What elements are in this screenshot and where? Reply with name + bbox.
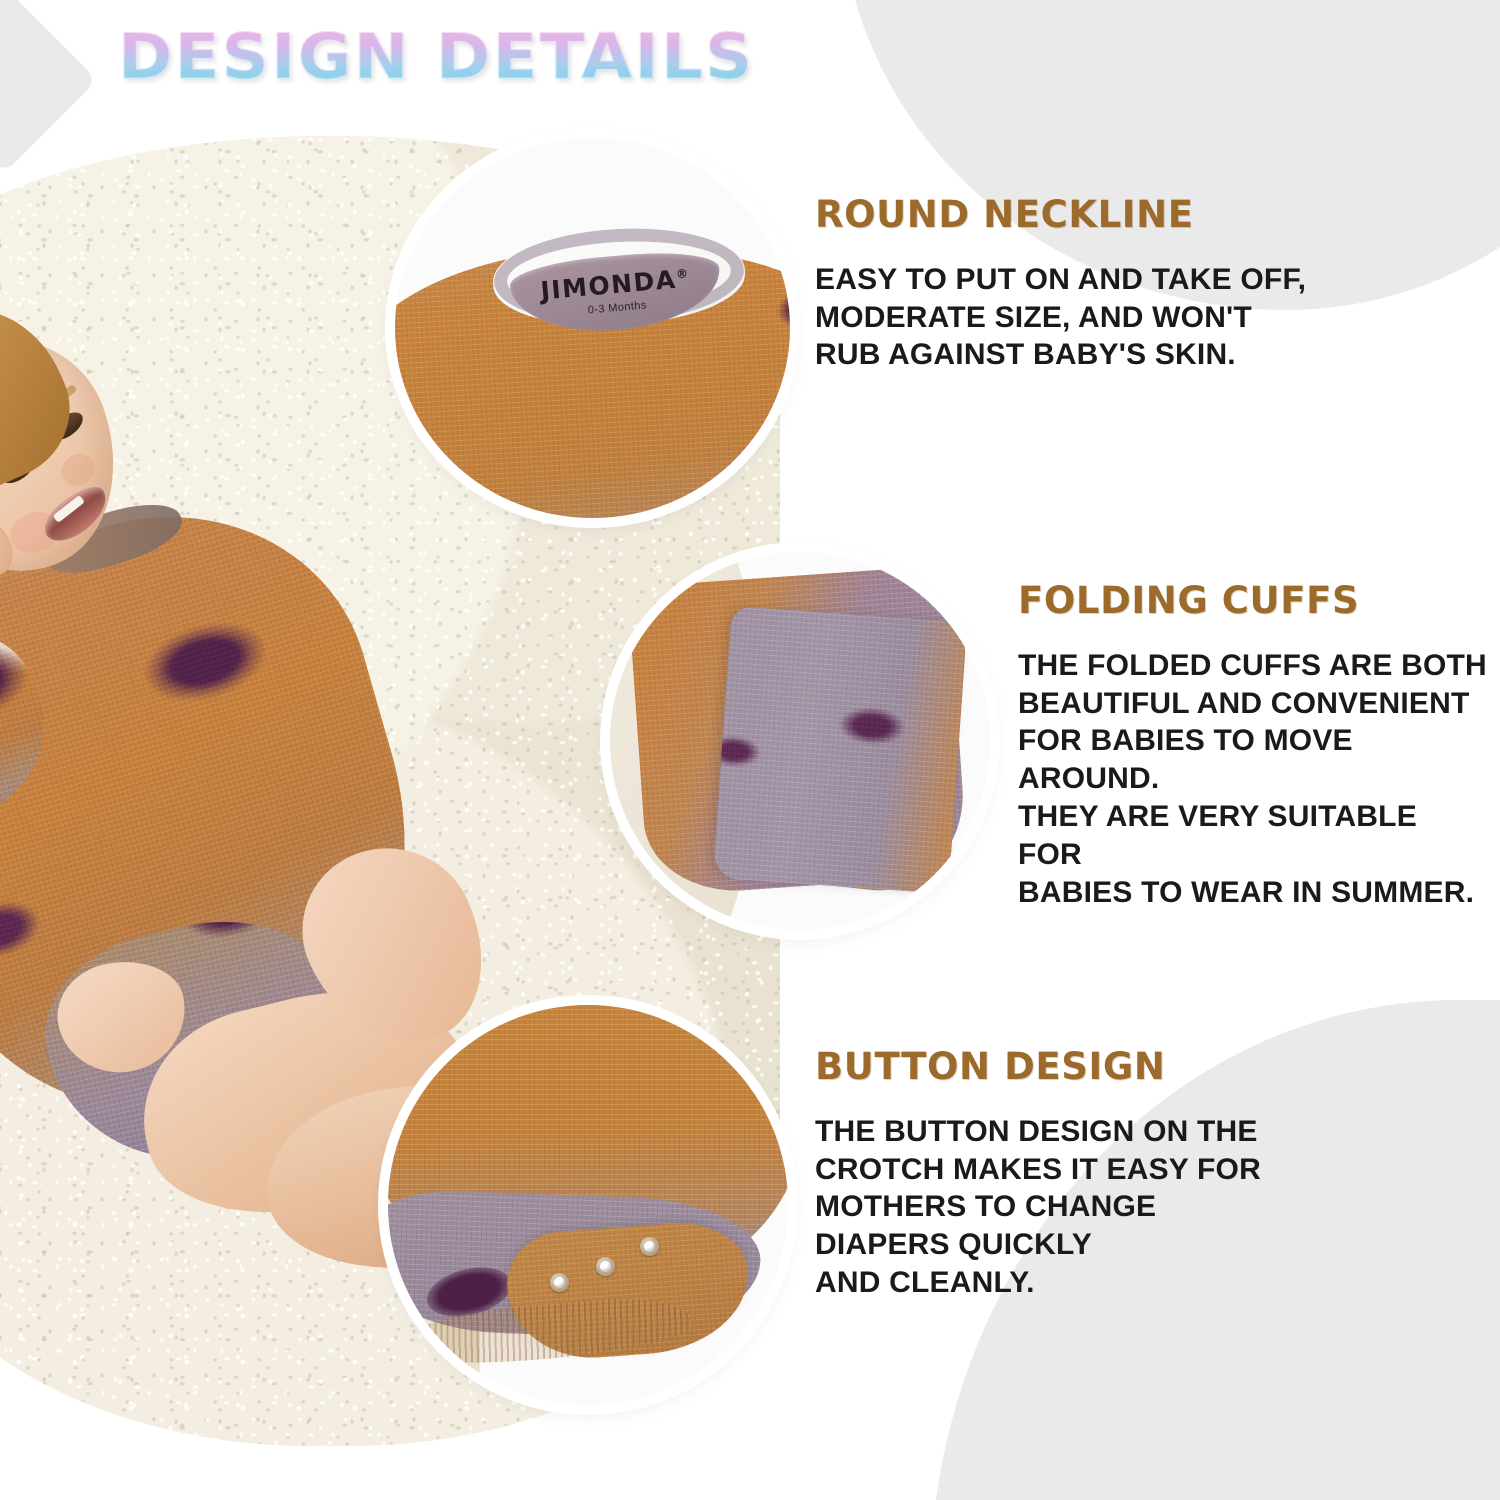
inset-neckline-closeup: JIMONDA® 0-3 Months	[395, 138, 790, 518]
registered-trademark-icon: ®	[675, 266, 690, 281]
snap-button-icon	[550, 1273, 569, 1292]
snap-button-icon	[596, 1257, 615, 1276]
feature-heading: FOLDING CUFFS	[1018, 582, 1488, 621]
feature-body: THE FOLDED CUFFS ARE BOTH BEAUTIFUL AND …	[1018, 647, 1488, 912]
brand-name: JIMONDA	[539, 265, 677, 306]
feature-body: EASY TO PUT ON AND TAKE OFF, MODERATE SI…	[815, 261, 1335, 374]
inset-crotch-button-closeup	[388, 1005, 788, 1405]
feature-block-folding-cuffs: FOLDING CUFFS THE FOLDED CUFFS ARE BOTH …	[1018, 582, 1488, 911]
waffle-knit-texture	[713, 606, 967, 894]
feature-body: THE BUTTON DESIGN ON THE CROTCH MAKES IT…	[815, 1113, 1335, 1302]
baby-nose	[55, 448, 100, 493]
folded-cuff	[713, 606, 967, 894]
feature-block-button-design: BUTTON DESIGN THE BUTTON DESIGN ON THE C…	[815, 1048, 1335, 1302]
infographic-canvas: JIMONDA® 0-3 Months	[0, 0, 1500, 1500]
page-title: DESIGN DETAILS	[118, 26, 754, 88]
feature-block-round-neckline: ROUND NECKLINE EASY TO PUT ON AND TAKE O…	[815, 196, 1335, 374]
brand-name-text: JIMONDA®	[540, 266, 691, 304]
inset-cuff-closeup	[610, 552, 990, 930]
page-title-wrap: DESIGN DETAILS	[118, 26, 718, 88]
snap-button-icon	[640, 1237, 659, 1256]
cuff-scene	[610, 552, 990, 930]
crotch-scene	[388, 1005, 788, 1405]
feature-heading: ROUND NECKLINE	[815, 196, 1335, 235]
feature-heading: BUTTON DESIGN	[815, 1048, 1335, 1087]
size-label: 0-3 Months	[587, 299, 647, 316]
